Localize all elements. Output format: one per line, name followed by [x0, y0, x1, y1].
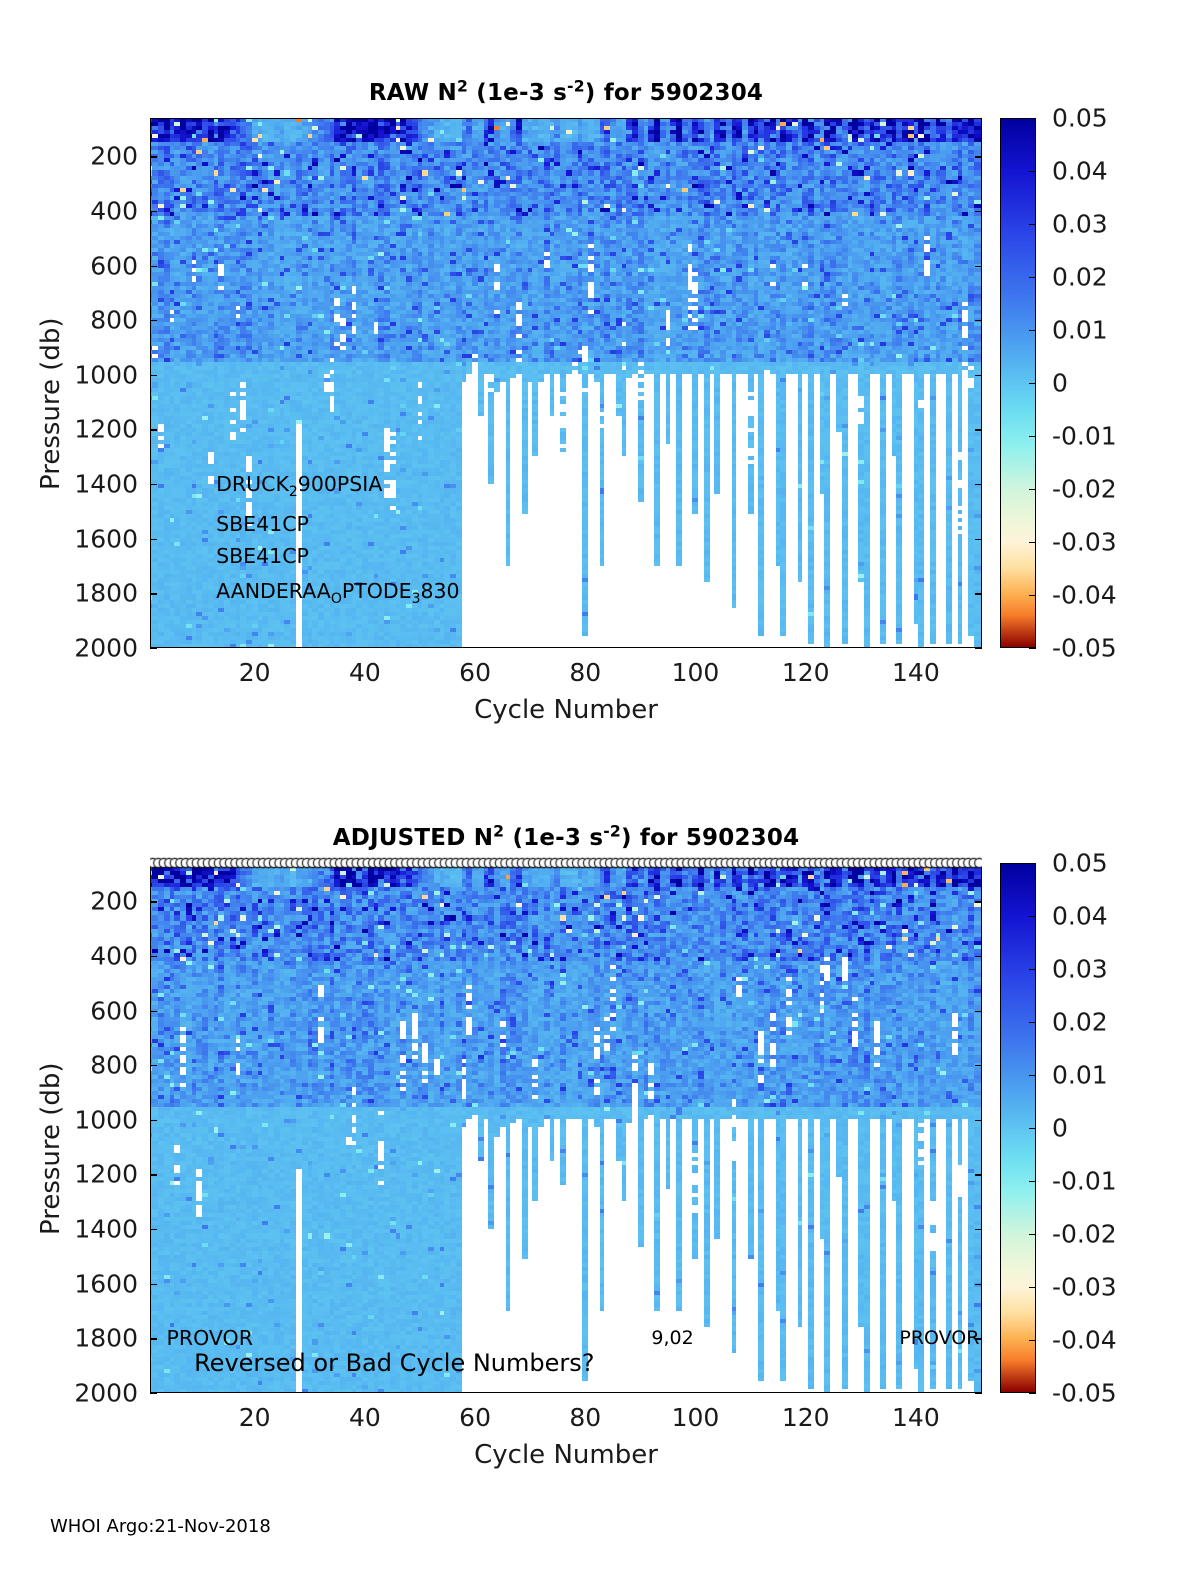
y-tick [150, 1174, 157, 1175]
y-tick-label: 1200 [0, 415, 138, 444]
y-tick-right [975, 429, 982, 430]
colorbar-tick [1029, 1075, 1036, 1076]
colorbar-tick [1029, 595, 1036, 596]
y-tick-label: 200 [0, 887, 138, 916]
annotation-text: PROVOR [899, 1327, 979, 1349]
y-tick-label: 600 [0, 996, 138, 1025]
heatmap-raw [150, 118, 982, 648]
sensor-oxygen: AANDERAAOPTODE3830 [216, 579, 460, 603]
y-tick-label: 1400 [0, 470, 138, 499]
panel-adjusted: ADJUSTED N2 (1e-3 s-2) for 5902304 20040… [0, 745, 1200, 1505]
colorbar-tick [1029, 1234, 1036, 1235]
annotation-text: 9,02 [651, 1327, 693, 1349]
panel-raw-title: RAW N2 (1e-3 s-2) for 5902304 [150, 80, 982, 106]
y-tick-label: 800 [0, 306, 138, 335]
axes-raw [150, 118, 982, 648]
y-tick [150, 1120, 157, 1121]
colorbar-tick [1029, 1181, 1036, 1182]
y-tick [150, 266, 157, 267]
y-tick [150, 1338, 157, 1339]
y-tick-right [975, 156, 982, 157]
title-prefix: ADJUSTED N [333, 825, 493, 851]
y-tick [150, 484, 157, 485]
y-tick [150, 320, 157, 321]
y-tick [150, 1065, 157, 1066]
colorbar-tick [1029, 1393, 1036, 1394]
y-tick-right [975, 1011, 982, 1012]
title-exponent-2: -2 [603, 821, 621, 840]
x-tick-label: 140 [892, 1403, 940, 1432]
y-tick-right [975, 901, 982, 902]
title-prefix: RAW N [369, 80, 457, 106]
x-tick-label: 40 [349, 658, 381, 687]
title-mid: (1e-3 s [468, 80, 567, 106]
footer-credit: WHOI Argo:21-Nov-2018 [50, 1516, 271, 1537]
y-tick-label: 800 [0, 1051, 138, 1080]
colorbar-tick [1029, 277, 1036, 278]
colorbar-tick-label: 0 [1052, 369, 1068, 398]
y-tick-label: 1000 [0, 360, 138, 389]
y-tick [150, 901, 157, 902]
colorbar-tick-label: 0.05 [1052, 104, 1108, 133]
colorbar-tick [1029, 1287, 1036, 1288]
colorbar-tick-label: -0.05 [1052, 634, 1117, 663]
colorbar-tick-label: -0.04 [1052, 581, 1117, 610]
colorbar-tick [1029, 1022, 1036, 1023]
y-tick-right [975, 593, 982, 594]
colorbar-tick-label: 0.03 [1052, 210, 1108, 239]
y-tick-label: 600 [0, 251, 138, 280]
y-tick-right [975, 1393, 982, 1394]
y-tick [150, 156, 157, 157]
colorbar-tick [1029, 383, 1036, 384]
y-tick-right [975, 211, 982, 212]
colorbar-tick [1029, 171, 1036, 172]
y-tick-label: 1000 [0, 1105, 138, 1134]
colorbar-tick [1029, 969, 1036, 970]
colorbar-tick [1029, 436, 1036, 437]
y-tick-right [975, 1284, 982, 1285]
x-tick-label: 20 [239, 658, 271, 687]
y-tick-right [975, 484, 982, 485]
colorbar-tick-label: 0.02 [1052, 263, 1108, 292]
x-tick-label: 80 [569, 1403, 601, 1432]
y-axis-label-adjusted: Pressure (db) [36, 1062, 66, 1235]
colorbar-tick [1029, 648, 1036, 649]
colorbar-tick-label: 0.05 [1052, 849, 1108, 878]
colorbar-tick-label: 0.01 [1052, 1061, 1108, 1090]
y-tick [150, 593, 157, 594]
annotation-text: SBE41CP [216, 512, 309, 536]
colorbar-tick-label: 0.04 [1052, 902, 1108, 931]
y-tick [150, 211, 157, 212]
x-tick-label: 100 [672, 1403, 720, 1432]
colorbar-adjusted: 0.050.040.030.020.010-0.01-0.02-0.03-0.0… [1000, 863, 1036, 1393]
annotation-text: DRUCK [216, 472, 289, 496]
y-tick-label: 1600 [0, 1269, 138, 1298]
colorbar-tick-label: 0.03 [1052, 955, 1108, 984]
annotation-text: SBE41CP [216, 544, 309, 568]
annotation-text: Reversed or Bad Cycle Numbers? [194, 1349, 594, 1377]
y-tick-right [975, 375, 982, 376]
x-tick-label: 20 [239, 1403, 271, 1432]
y-tick-label: 1600 [0, 524, 138, 553]
colorbar-tick-label: 0.04 [1052, 157, 1108, 186]
y-tick-label: 400 [0, 196, 138, 225]
y-tick [150, 1011, 157, 1012]
y-tick-label: 1200 [0, 1160, 138, 1189]
y-tick-label: 400 [0, 941, 138, 970]
x-tick-label: 140 [892, 658, 940, 687]
colorbar-tick [1029, 1128, 1036, 1129]
title-exponent-1: 2 [457, 76, 468, 95]
axes-adjusted [150, 863, 982, 1393]
calib-value: 9,02 [651, 1327, 693, 1349]
annotation-subscript: O [331, 591, 342, 607]
colorbar-tick [1029, 224, 1036, 225]
x-tick-label: 60 [459, 1403, 491, 1432]
y-tick-label: 200 [0, 142, 138, 171]
x-tick-label: 80 [569, 658, 601, 687]
colorbar-raw: 0.050.040.030.020.010-0.01-0.02-0.03-0.0… [1000, 118, 1036, 648]
title-suffix: ) for 5902304 [585, 80, 763, 106]
title-exponent-1: 2 [493, 821, 504, 840]
colorbar-tick [1029, 489, 1036, 490]
y-tick-label: 2000 [0, 634, 138, 663]
annotation-text: PTODE [342, 579, 412, 603]
float-type-left: PROVOR [167, 1326, 253, 1350]
panel-adjusted-title: ADJUSTED N2 (1e-3 s-2) for 5902304 [150, 825, 982, 851]
y-tick-right [975, 648, 982, 649]
y-tick-label: 1400 [0, 1215, 138, 1244]
y-tick [150, 539, 157, 540]
sensor-ctd-2: SBE41CP [216, 544, 309, 568]
colorbar-tick-label: -0.05 [1052, 1379, 1117, 1408]
colorbar-tick-label: -0.02 [1052, 475, 1117, 504]
y-tick-label: 2000 [0, 1379, 138, 1408]
colorbar-tick [1029, 118, 1036, 119]
colorbar-tick-label: -0.01 [1052, 1167, 1117, 1196]
y-tick [150, 648, 157, 649]
y-tick-right [975, 539, 982, 540]
colorbar-tick [1029, 330, 1036, 331]
y-tick-right [975, 956, 982, 957]
annotation-text: 900PSIA [298, 472, 383, 496]
colorbar-tick-label: 0.01 [1052, 316, 1108, 345]
y-tick-label: 1800 [0, 1324, 138, 1353]
y-tick [150, 375, 157, 376]
title-suffix: ) for 5902304 [621, 825, 799, 851]
y-tick [150, 1393, 157, 1394]
annotation-subscript: 2 [289, 484, 298, 500]
x-tick-label: 120 [782, 1403, 830, 1432]
cycle-marker-row[interactable] [150, 852, 982, 874]
x-tick-label: 120 [782, 658, 830, 687]
colorbar-tick-label: 0 [1052, 1114, 1068, 1143]
colorbar-tick-label: -0.03 [1052, 1273, 1117, 1302]
colorbar-tick [1029, 542, 1036, 543]
colorbar-tick-label: -0.04 [1052, 1326, 1117, 1355]
y-tick [150, 956, 157, 957]
heatmap-adjusted [150, 863, 982, 1393]
x-axis-label-adjusted: Cycle Number [474, 1440, 658, 1470]
colorbar-tick [1029, 916, 1036, 917]
y-tick-right [975, 1065, 982, 1066]
colorbar-tick-label: -0.01 [1052, 422, 1117, 451]
y-tick-label: 1800 [0, 579, 138, 608]
float-type-right: PROVOR [899, 1327, 979, 1349]
sensor-pressure: DRUCK2900PSIA [216, 472, 382, 496]
title-exponent-2: -2 [567, 76, 585, 95]
colorbar-tick [1029, 863, 1036, 864]
y-tick-right [975, 266, 982, 267]
annotation-text: AANDERAA [216, 579, 331, 603]
annotation-text: PROVOR [167, 1326, 253, 1350]
colorbar-tick-label: -0.03 [1052, 528, 1117, 557]
y-tick-right [975, 320, 982, 321]
x-tick-label: 60 [459, 658, 491, 687]
x-tick-label: 40 [349, 1403, 381, 1432]
y-tick-right [975, 1174, 982, 1175]
y-tick [150, 1229, 157, 1230]
colorbar-tick-label: -0.02 [1052, 1220, 1117, 1249]
sensor-ctd-1: SBE41CP [216, 512, 309, 536]
colorbar-tick [1029, 1340, 1036, 1341]
y-tick-right [975, 1229, 982, 1230]
cycle-warning: Reversed or Bad Cycle Numbers? [194, 1349, 594, 1377]
y-tick [150, 1284, 157, 1285]
title-mid: (1e-3 s [504, 825, 603, 851]
panel-raw: RAW N2 (1e-3 s-2) for 5902304 2004006008… [0, 0, 1200, 760]
x-tick-label: 100 [672, 658, 720, 687]
colorbar-tick-label: 0.02 [1052, 1008, 1108, 1037]
y-axis-label-raw: Pressure (db) [36, 317, 66, 490]
y-tick [150, 429, 157, 430]
annotation-text: 830 [420, 579, 459, 603]
x-axis-label-raw: Cycle Number [474, 695, 658, 725]
y-tick-right [975, 1338, 982, 1339]
y-tick-right [975, 1120, 982, 1121]
